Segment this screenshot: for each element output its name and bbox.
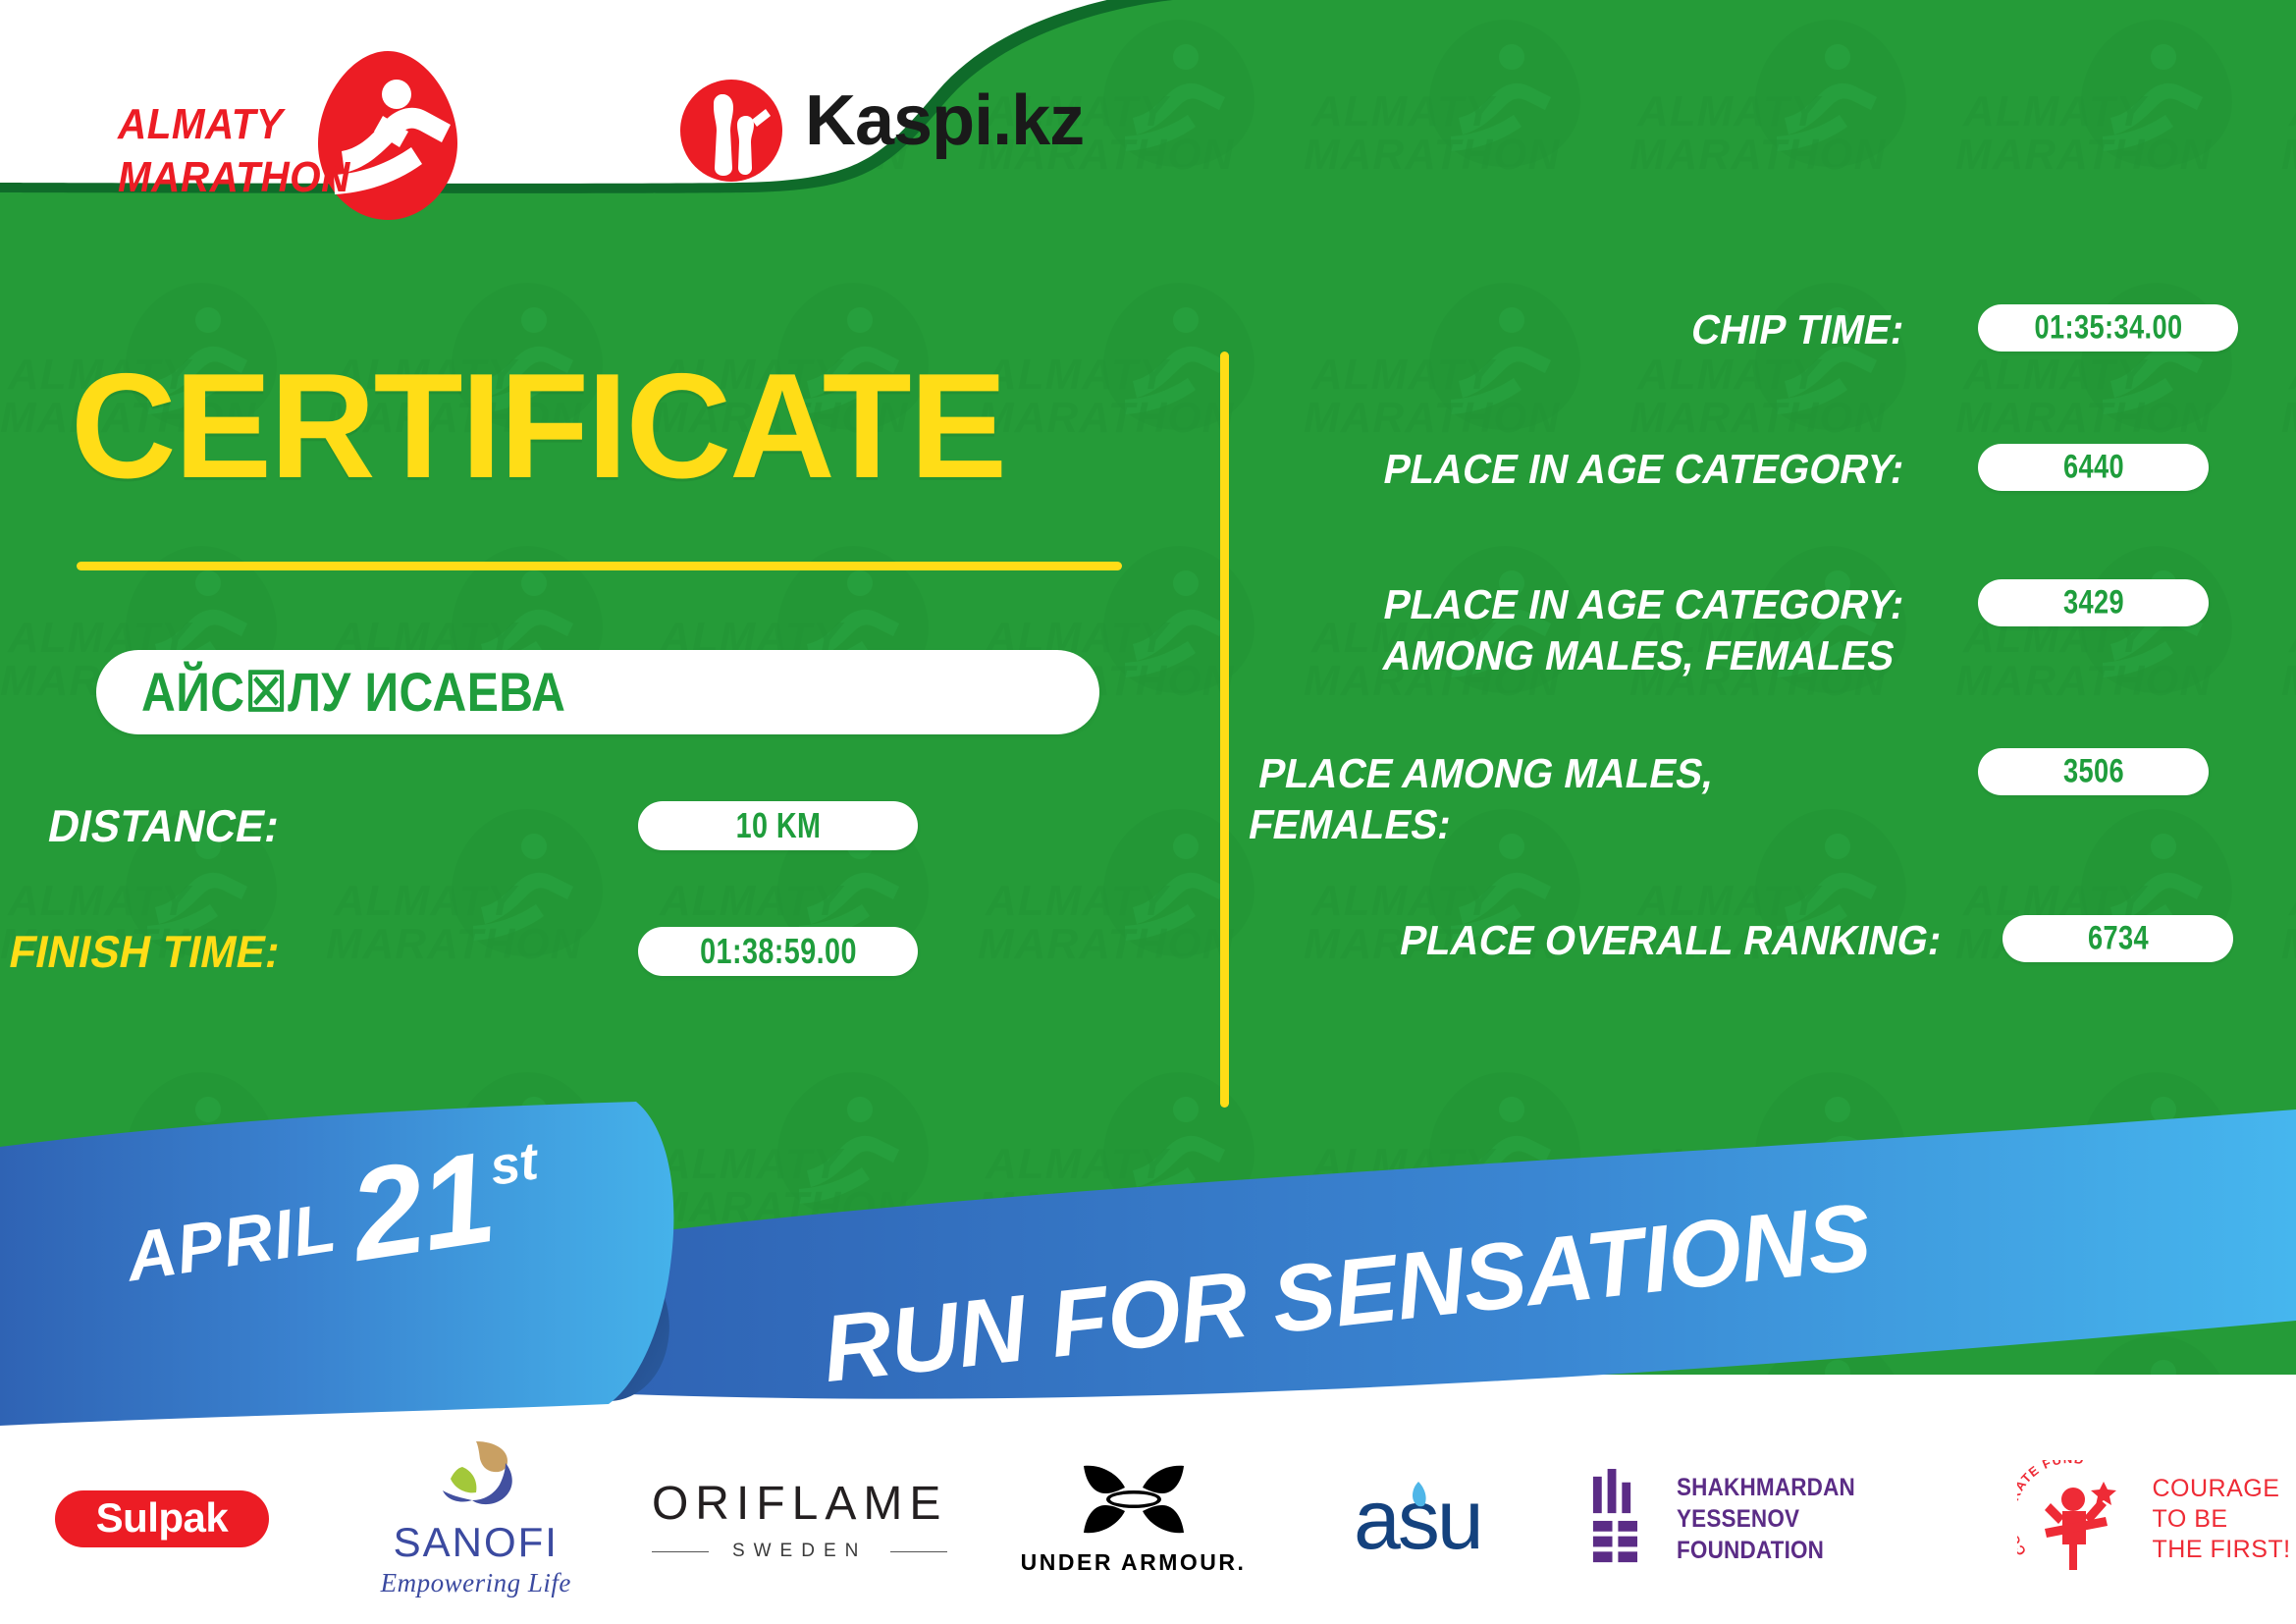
almaty-marathon-logo[interactable]: ALMATYMARATHON	[118, 47, 452, 224]
place-overall-ranking-label: PLACE OVERALL RANKING:	[1247, 915, 1947, 966]
sponsor-under-armour[interactable]: UNDER ARMOUR.	[972, 1445, 1296, 1593]
sponsor-sanofi[interactable]: SANOFI Empowering Life	[324, 1445, 628, 1593]
sponsor-yessenov-foundation[interactable]: SHAKHMARDAN YESSENOV FOUNDATION	[1589, 1445, 2011, 1593]
title-underline	[77, 562, 1122, 570]
asu-logo-icon: asu	[1354, 1474, 1530, 1564]
event-month: APRIL	[121, 1188, 341, 1297]
distance-value: 10 KM	[735, 805, 821, 846]
place-age-category-label: PLACE IN AGE CATEGORY:	[1247, 444, 1909, 495]
sponsor-oriflame[interactable]: ORIFLAME SWEDEN	[628, 1445, 972, 1593]
almaty-marathon-logo-text: ALMATYMARATHON	[118, 98, 350, 204]
place-age-category-value: 6440	[2062, 449, 2123, 487]
event-day: 21	[342, 1122, 503, 1289]
sponsor-bar: Sulpak SANOFI Empowering Life ORIFLAME S…	[0, 1414, 2296, 1624]
am-line2: MARATHON	[118, 153, 350, 201]
finish-time-value-pill[interactable]: 01:38:59.00	[638, 927, 918, 976]
participant-name-value: АЙС☒ЛУ ИСАЕВА	[141, 660, 565, 725]
event-day-suffix: st	[486, 1130, 542, 1197]
sanofi-mark-icon	[433, 1439, 519, 1508]
distance-field: DISTANCE: 10 KM	[0, 797, 923, 854]
finish-time-value: 01:38:59.00	[700, 931, 857, 972]
courage-fund-icon: CORPORATE FUND	[2017, 1460, 2143, 1578]
am-line1: ALMATY	[118, 100, 283, 148]
sponsor-sulpak[interactable]: Sulpak	[0, 1445, 324, 1593]
oriflame-label: ORIFLAME	[652, 1477, 947, 1531]
distance-label: DISTANCE:	[44, 799, 285, 852]
sulpak-logo: Sulpak	[55, 1490, 269, 1547]
place-overall-ranking-value: 6734	[2087, 920, 2148, 958]
finish-time-label: FINISH TIME:	[5, 925, 285, 978]
chip-time-value-pill[interactable]: 01:35:34.00	[1978, 304, 2238, 352]
kaspi-logo[interactable]: Kaspi.kz	[677, 71, 1090, 198]
under-armour-label: UNDER ARMOUR.	[1021, 1549, 1247, 1576]
sanofi-tagline: Empowering Life	[381, 1568, 571, 1598]
column-divider	[1220, 352, 1229, 1108]
under-armour-icon	[1074, 1462, 1194, 1537]
yessenov-mark-icon	[1589, 1468, 1655, 1570]
courage-label: COURAGE TO BE THE FIRST!	[2153, 1474, 2291, 1565]
oriflame-sub: SWEDEN	[652, 1541, 947, 1562]
chip-time-value: 01:35:34.00	[2034, 309, 2182, 348]
certificate-canvas: ALMATY MARATHON	[0, 0, 2296, 1624]
sulpak-label: Sulpak	[96, 1494, 229, 1542]
sanofi-label: SANOFI	[381, 1519, 571, 1566]
place-age-category-gender-value-pill[interactable]: 3429	[1978, 579, 2209, 626]
kaspi-people-icon	[677, 77, 785, 185]
distance-value-pill[interactable]: 10 KM	[638, 801, 918, 850]
finish-time-field: FINISH TIME: 01:38:59.00	[0, 923, 923, 980]
chip-time-label: CHIP TIME:	[1247, 304, 1909, 355]
yessenov-label: SHAKHMARDAN YESSENOV FOUNDATION	[1677, 1472, 1978, 1566]
place-age-category-gender-label: PLACE IN AGE CATEGORY: AMONG MALES, FEMA…	[1237, 579, 1909, 681]
sponsor-courage-to-be-the-first[interactable]: CORPORATE FUND COURAGE TO BE THE FIRST!	[2011, 1445, 2296, 1593]
place-among-gender-label: PLACE AMONG MALES, FEMALES:	[1245, 748, 1917, 850]
place-age-category-value-pill[interactable]: 6440	[1978, 444, 2209, 491]
place-age-category-gender-value: 3429	[2062, 584, 2123, 623]
place-among-gender-value: 3506	[2062, 753, 2123, 791]
participant-name-field[interactable]: АЙС☒ЛУ ИСАЕВА	[96, 650, 1099, 734]
page-title: CERTIFICATE	[71, 352, 1005, 501]
kaspi-logo-text: Kaspi.kz	[805, 81, 1084, 161]
header-logos: ALMATYMARATHON Kaspi.kz	[0, 0, 1227, 270]
place-among-gender-value-pill[interactable]: 3506	[1978, 748, 2209, 795]
sponsor-asu[interactable]: asu	[1295, 1445, 1589, 1593]
place-overall-ranking-value-pill[interactable]: 6734	[2002, 915, 2233, 962]
